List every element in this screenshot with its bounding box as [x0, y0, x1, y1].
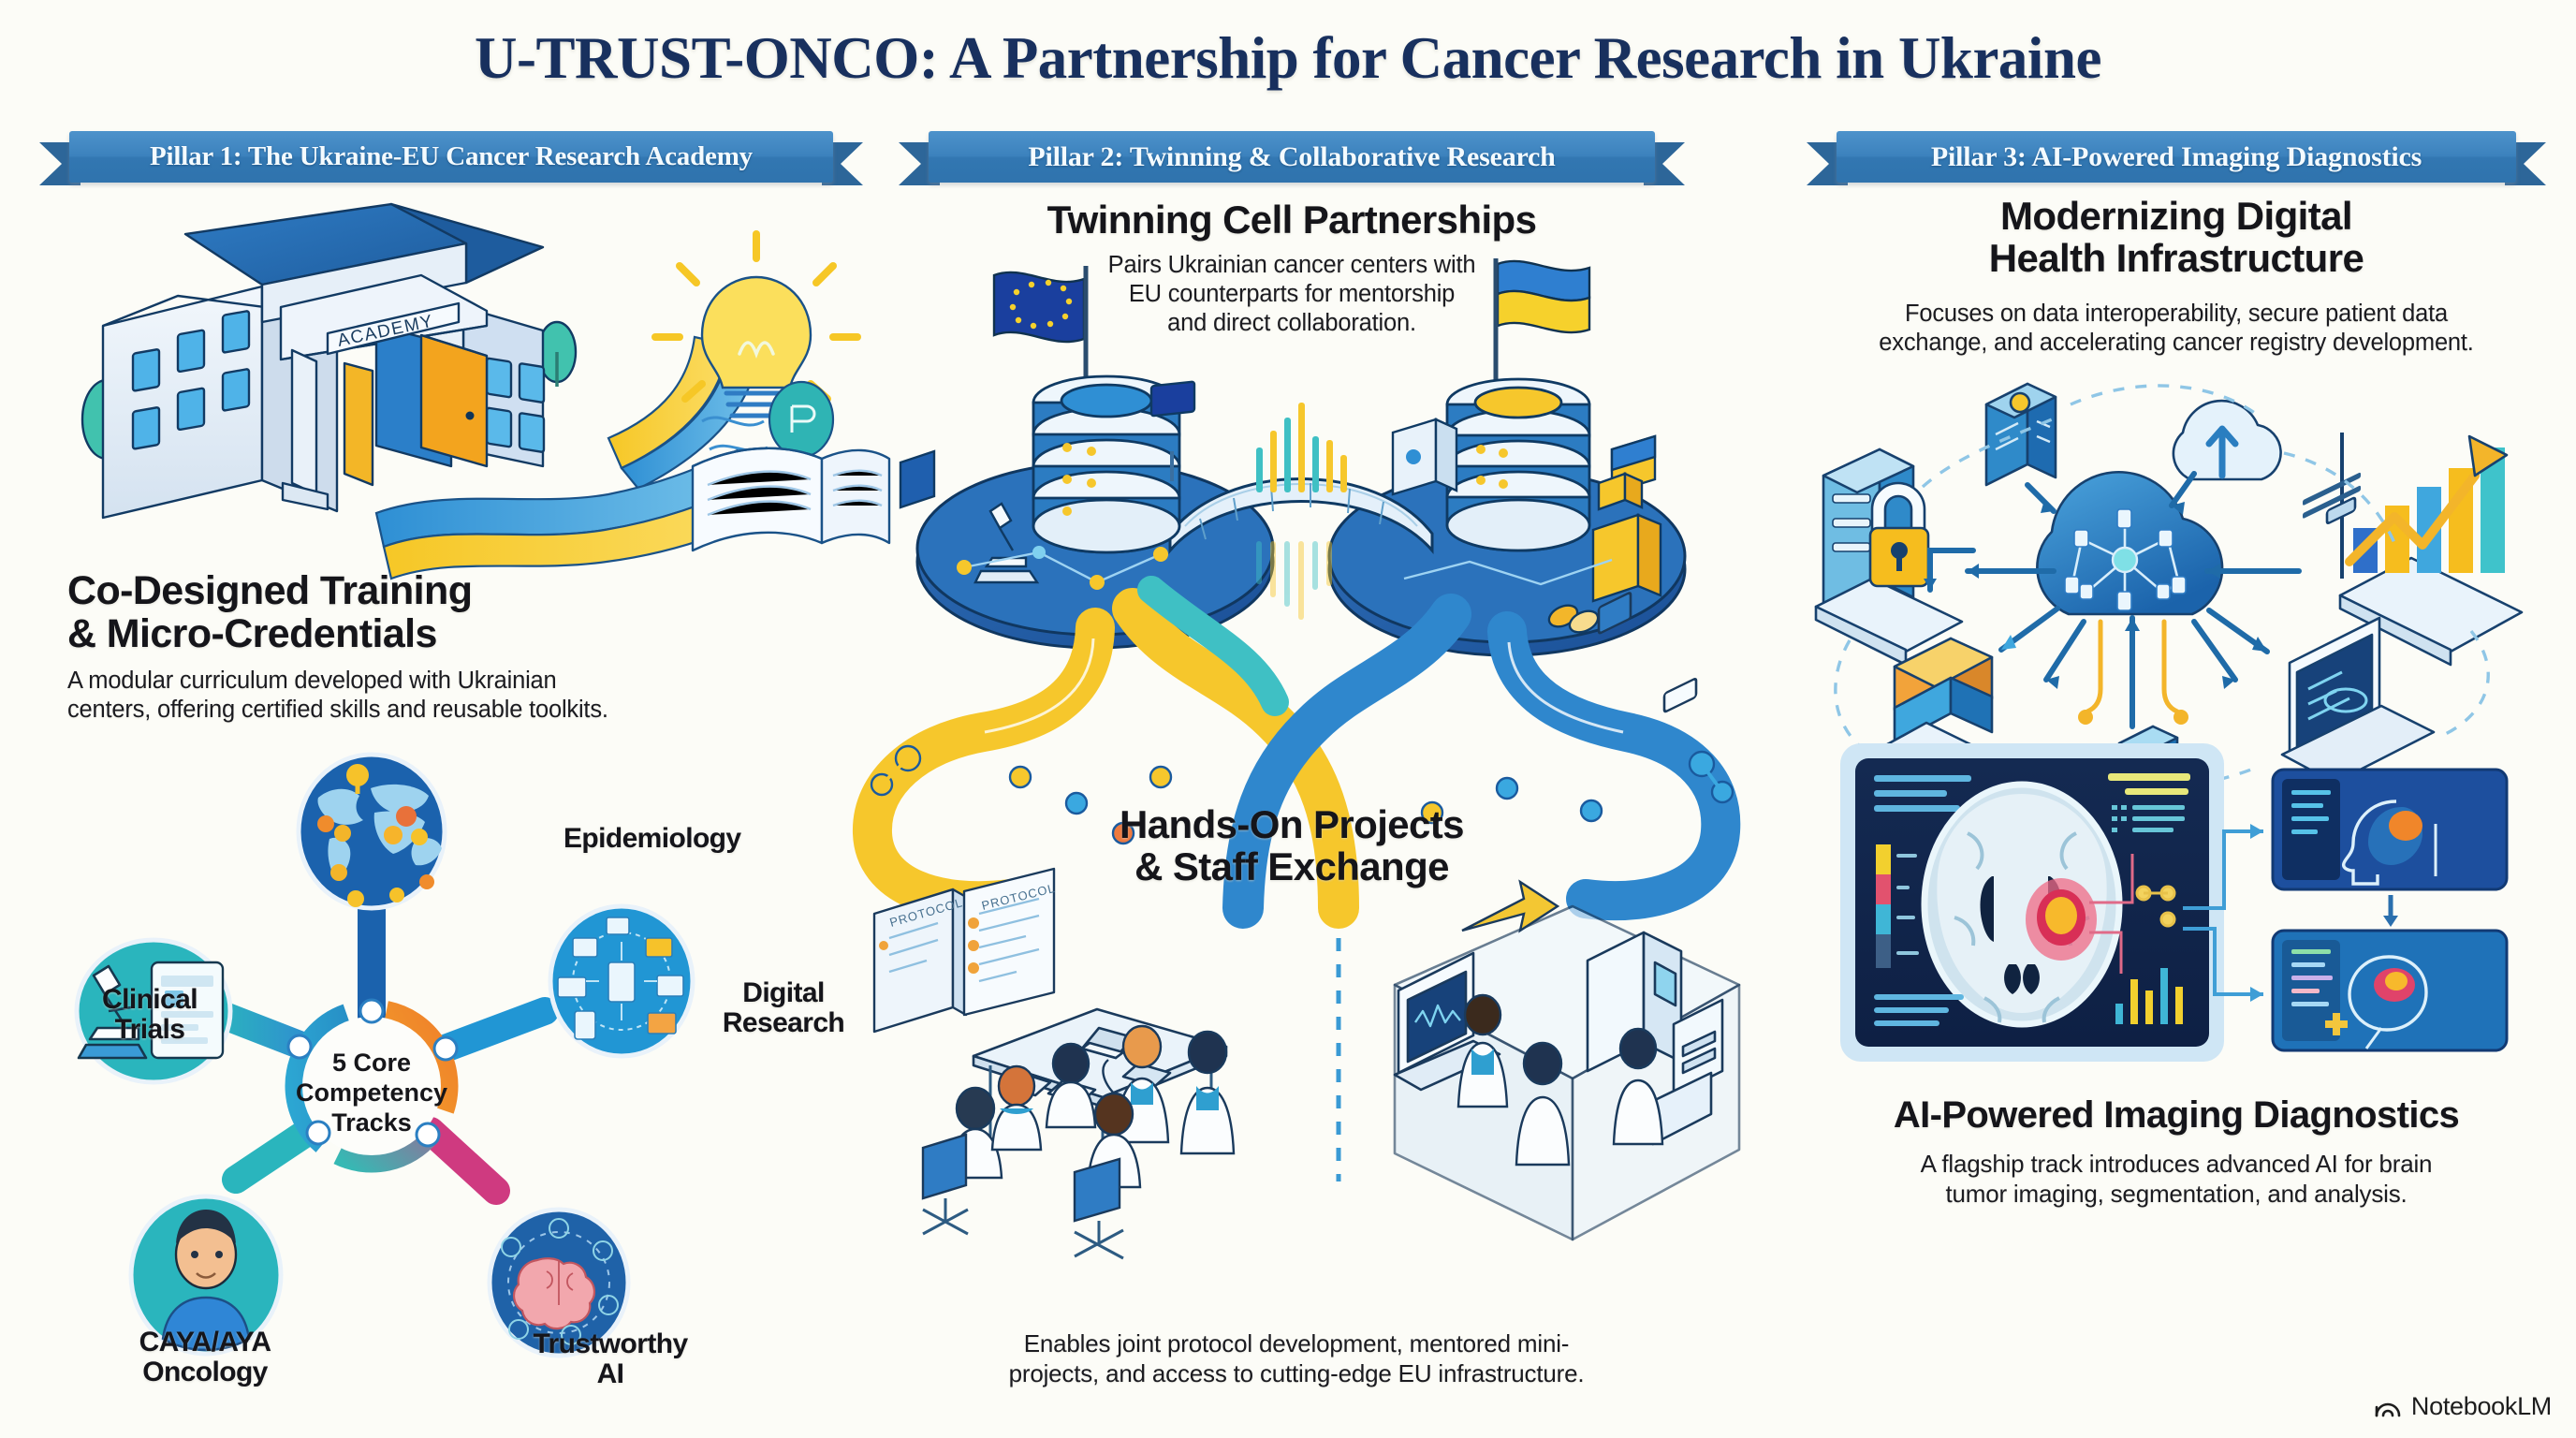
section-heading-ai-powered-imaging-diagnostics: AI-Powered Imaging Diagnostics	[1807, 1095, 2546, 1136]
section-body-ai-powered-imaging: A flagship track introduces advanced AI …	[1816, 1150, 2537, 1209]
caption-line-2: projects, and access to cutting-edge EU …	[927, 1359, 1666, 1389]
cloud-network-infrastructure-illustration	[1816, 363, 2537, 785]
banner-pillar-1: Pillar 1: The Ukraine-EU Cancer Research…	[39, 131, 863, 185]
page-title: U-TRUST-ONCO: A Partnership for Cancer R…	[0, 24, 2576, 93]
section-heading-twinning-cell-partnerships: Twinning Cell Partnerships	[899, 198, 1685, 241]
section-body-modernizing-digital-health: Focuses on data interoperability, secure…	[1807, 300, 2546, 358]
label-line: Oncology	[88, 1357, 322, 1387]
section-heading-modernizing-digital-health: Modernizing Digital Health Infrastructur…	[1807, 195, 2546, 280]
section-body-co-designed-training: A modular curriculum developed with Ukra…	[67, 667, 741, 725]
wheel-label-clinical-trials: Clinical Trials	[56, 985, 243, 1046]
caption-line-1: Enables joint protocol development, ment…	[927, 1329, 1666, 1359]
heading-line-1: Co-Designed Training	[67, 569, 666, 612]
section-caption-hands-on-projects: Enables joint protocol development, ment…	[927, 1329, 1666, 1388]
banner-pillar-3: Pillar 3: AI-Powered Imaging Diagnostics	[1807, 131, 2546, 185]
heading-line-2: & Micro-Credentials	[67, 612, 666, 655]
heading-line-1: Hands-On Projects	[899, 803, 1685, 845]
banner-label: Pillar 1: The Ukraine-EU Cancer Research…	[150, 141, 753, 172]
body-line-1: A flagship track introduces advanced AI …	[1816, 1150, 2537, 1180]
wheel-label-caya-aya-oncology: CAYA/AYA Oncology	[88, 1328, 322, 1388]
body-line-2: centers, offering certified skills and r…	[67, 696, 741, 725]
body-line-2: exchange, and accelerating cancer regist…	[1807, 329, 2546, 358]
label-line: AI	[489, 1359, 732, 1389]
wheel-label-trustworthy-ai: Trustworthy AI	[489, 1329, 732, 1390]
brain-mri-ai-panel-illustration	[1835, 734, 2527, 1071]
section-heading-co-designed-training: Co-Designed Training & Micro-Credentials	[67, 569, 666, 656]
notebooklm-logo-icon	[2374, 1396, 2402, 1418]
column-pillar-2: Pillar 2: Twinning & Collaborative Resea…	[899, 131, 1685, 1438]
notebooklm-watermark: NotebookLM	[2374, 1392, 2552, 1421]
wheel-label-epidemiology: Epidemiology	[563, 824, 741, 854]
body-line-1: Focuses on data interoperability, secure…	[1807, 300, 2546, 329]
column-pillar-1: Pillar 1: The Ukraine-EU Cancer Research…	[39, 131, 863, 1438]
research-team-and-lab-exchange-illustration: PROTOCOL PROTOCOL	[833, 873, 1750, 1247]
column-pillar-3: Pillar 3: AI-Powered Imaging Diagnostics…	[1807, 131, 2546, 1438]
svg-text:Competency: Competency	[296, 1078, 447, 1107]
label-line: Trials	[56, 1015, 243, 1045]
label-line: CAYA/AYA	[88, 1328, 322, 1357]
label-line: Epidemiology	[563, 824, 741, 854]
banner-label: Pillar 2: Twinning & Collaborative Resea…	[1028, 141, 1555, 173]
ribbon-band: Pillar 3: AI-Powered Imaging Diagnostics	[1837, 131, 2516, 183]
ribbon-band: Pillar 1: The Ukraine-EU Cancer Research…	[69, 131, 833, 183]
notebooklm-label: NotebookLM	[2411, 1392, 2552, 1421]
svg-text:5 Core: 5 Core	[332, 1049, 411, 1077]
heading-line-2: Health Infrastructure	[1807, 237, 2546, 279]
academy-building-lightbulb-book-illustration: ACADEMY	[47, 185, 852, 560]
banner-label: Pillar 3: AI-Powered Imaging Diagnostics	[1931, 141, 2422, 173]
body-line-1: A modular curriculum developed with Ukra…	[67, 667, 741, 696]
ribbon-band: Pillar 2: Twinning & Collaborative Resea…	[929, 131, 1655, 183]
label-line: Clinical	[56, 985, 243, 1015]
infographic-poster: U-TRUST-ONCO: A Partnership for Cancer R…	[0, 0, 2576, 1438]
banner-pillar-2: Pillar 2: Twinning & Collaborative Resea…	[899, 131, 1685, 185]
body-line-2: tumor imaging, segmentation, and analysi…	[1816, 1180, 2537, 1210]
svg-text:Tracks: Tracks	[331, 1108, 412, 1137]
heading-line-1: Modernizing Digital	[1807, 195, 2546, 237]
label-line: Trustworthy	[489, 1329, 732, 1359]
